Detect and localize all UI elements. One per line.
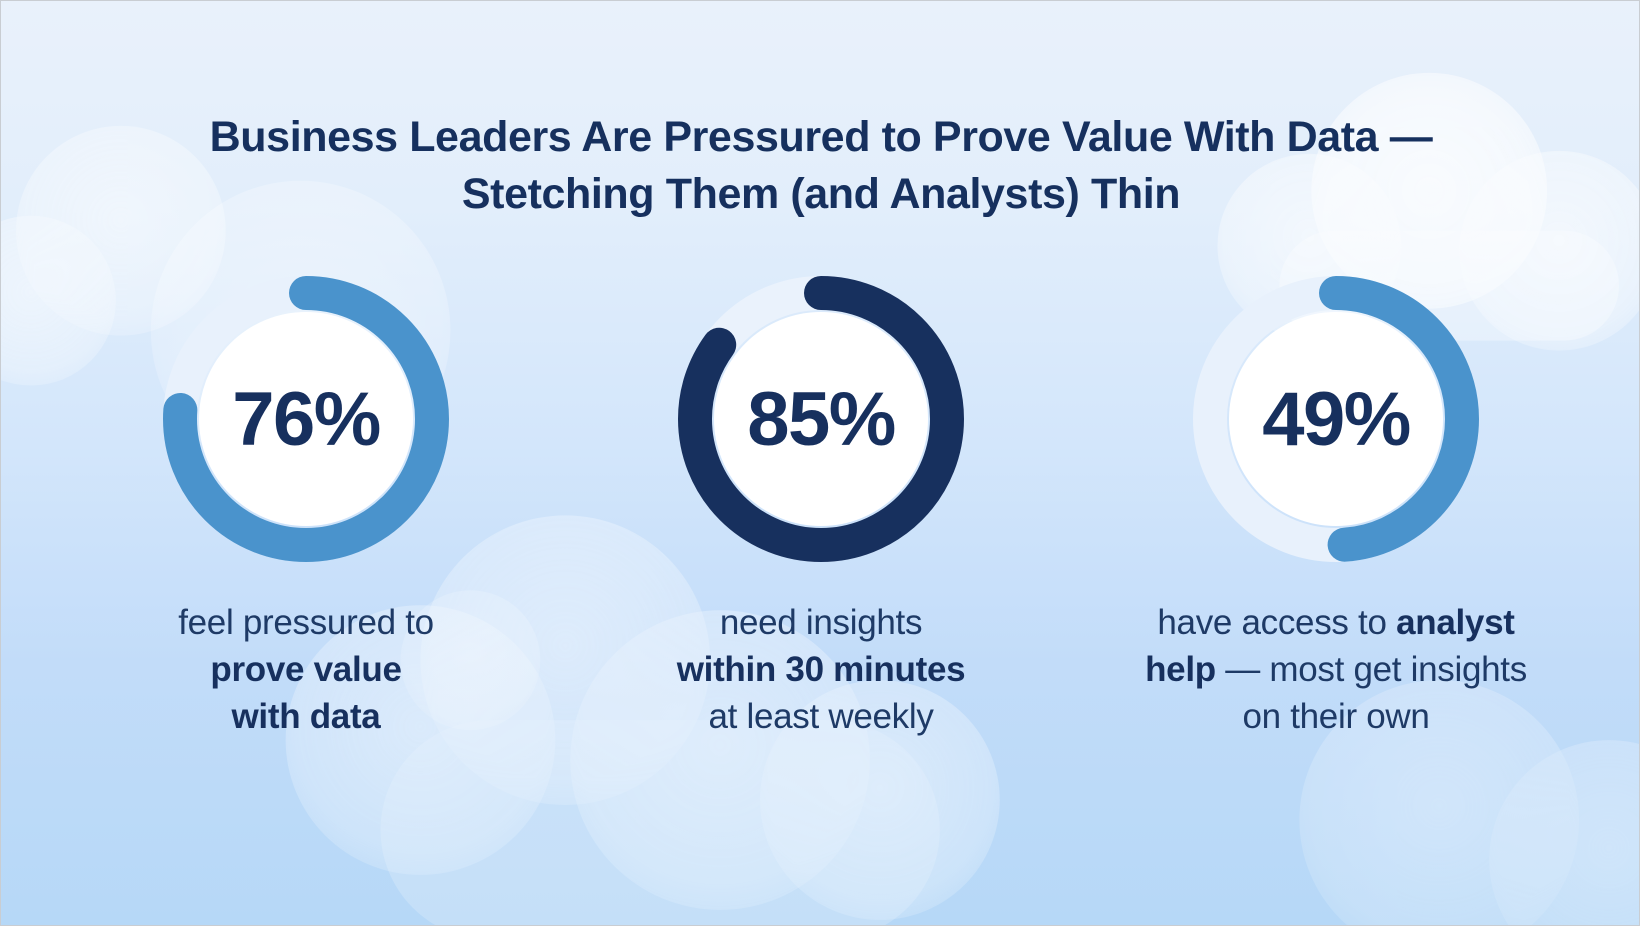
title-line-1: Business Leaders Are Pressured to Prove … (1, 109, 1640, 166)
donut-chart-2: 85% (671, 269, 971, 569)
stats-row: 76% feel pressured to prove value with d… (71, 269, 1571, 740)
donut-value-1: 76% (156, 269, 456, 569)
stat-caption-3: have access to analyst help — most get i… (1145, 599, 1527, 740)
caption-strong: with data (232, 697, 381, 736)
donut-value-2: 85% (671, 269, 971, 569)
donut-chart-1: 76% (156, 269, 456, 569)
caption-line: within 30 minutes (677, 646, 966, 693)
caption-line: feel pressured to (178, 599, 434, 646)
stat-card-1: 76% feel pressured to prove value with d… (71, 269, 541, 740)
caption-line: with data (178, 693, 434, 740)
caption-line: help — most get insights (1145, 646, 1527, 693)
caption-line: at least weekly (677, 693, 966, 740)
caption-plain: — most get insights (1216, 650, 1527, 689)
donut-chart-3: 49% (1186, 269, 1486, 569)
stat-caption-1: feel pressured to prove value with data (178, 599, 434, 740)
caption-plain: have access to (1157, 603, 1396, 642)
page-title: Business Leaders Are Pressured to Prove … (1, 109, 1640, 223)
stat-card-2: 85% need insights within 30 minutes at l… (586, 269, 1056, 740)
caption-line: have access to analyst (1145, 599, 1527, 646)
caption-line: prove value (178, 646, 434, 693)
title-line-2: Stetching Them (and Analysts) Thin (1, 166, 1640, 223)
caption-strong: within 30 minutes (677, 650, 966, 689)
caption-strong: analyst (1396, 603, 1515, 642)
caption-strong: prove value (210, 650, 401, 689)
infographic-slide: Business Leaders Are Pressured to Prove … (0, 0, 1640, 926)
donut-value-3: 49% (1186, 269, 1486, 569)
stat-card-3: 49% have access to analyst help — most g… (1101, 269, 1571, 740)
caption-line: need insights (677, 599, 966, 646)
stat-caption-2: need insights within 30 minutes at least… (677, 599, 966, 740)
caption-line: on their own (1145, 693, 1527, 740)
caption-strong: help (1145, 650, 1216, 689)
